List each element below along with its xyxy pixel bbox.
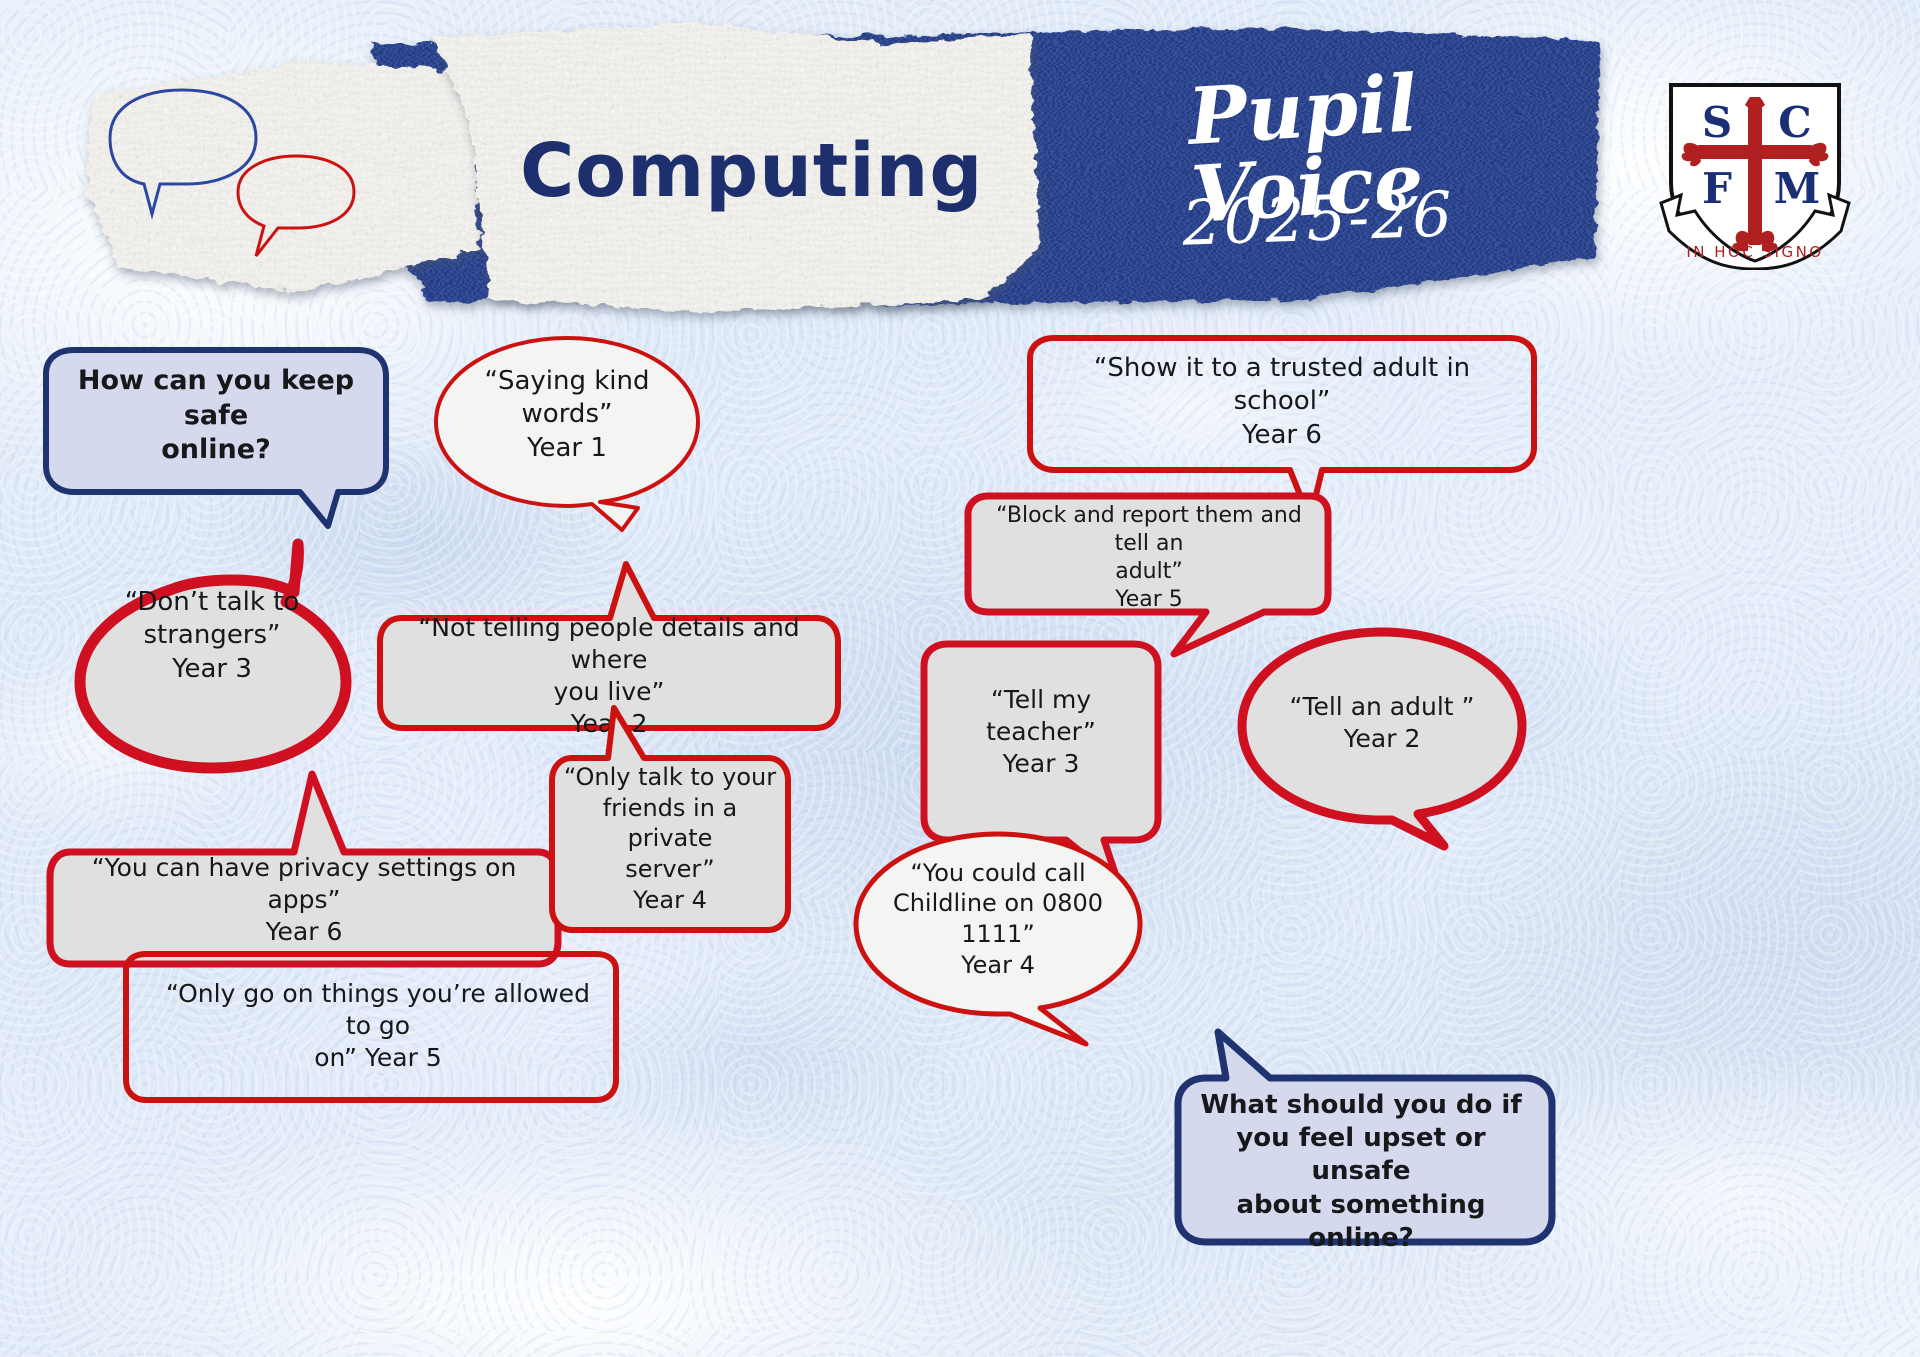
response-call-childline: “You could call Childline on 0800 1111” … <box>848 828 1148 1058</box>
crest-letter-c: C <box>1778 98 1811 147</box>
doodle-speech-bubbles <box>90 80 430 310</box>
question-bubble-shape <box>46 350 386 526</box>
crest-letter-f: F <box>1702 164 1732 213</box>
response-bubble-shape <box>856 834 1140 1044</box>
script-title-year: 2025-26 <box>1117 175 1519 262</box>
response-bubble-shape <box>50 774 558 964</box>
school-crest: S C F M IN HOC SIGNO <box>1655 75 1855 270</box>
response-bubble-shape <box>552 708 788 930</box>
response-bubble-shape <box>436 338 698 530</box>
crest-letter-m: M <box>1774 164 1821 213</box>
response-tell-an-adult: “Tell an adult ” Year 2 <box>1232 624 1532 884</box>
crest-letter-s: S <box>1702 98 1732 147</box>
response-only-talk-friends-private-server: “Only talk to your friends in a private … <box>546 700 794 940</box>
response-saying-kind-words: “Saying kind words” Year 1 <box>424 330 710 540</box>
crest-motto: IN HOC SIGNO <box>1686 243 1823 261</box>
question-upset-or-unsafe: What should you do if you feel upset or … <box>1162 1026 1560 1266</box>
page-title: Computing <box>520 128 983 214</box>
response-privacy-settings-on-apps: “You can have privacy settings on apps” … <box>44 760 564 970</box>
response-only-go-on-allowed-things: “Only go on things you’re allowed to go … <box>118 948 638 1108</box>
response-bubble-shape <box>126 954 616 1100</box>
question-keep-safe-online: How can you keep safe online? <box>38 344 394 524</box>
poster-header: Computing Pupil Voice 2025-26 <box>0 0 1920 330</box>
response-dont-talk-to-strangers: “Don’t talk to strangers” Year 3 <box>62 530 362 782</box>
response-bubble-shape <box>80 544 346 768</box>
question-bubble-shape <box>1178 1032 1552 1242</box>
response-bubble-shape <box>1242 632 1522 846</box>
